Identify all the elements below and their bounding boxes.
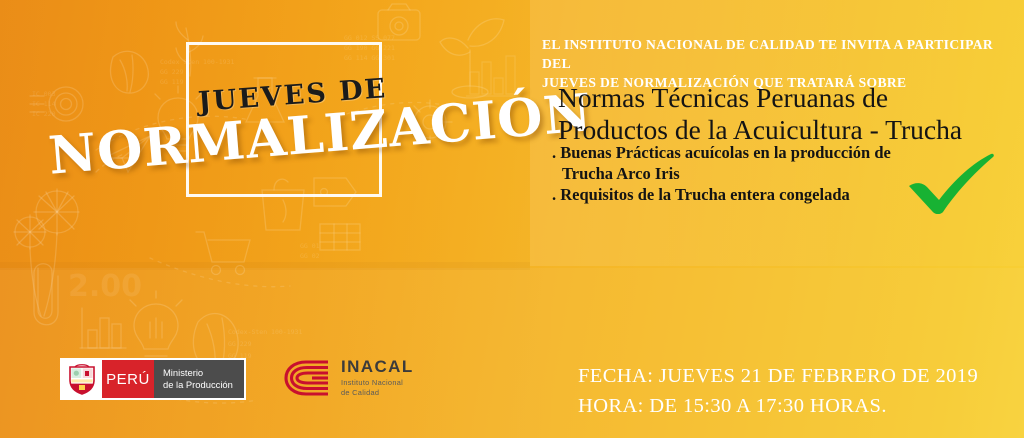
list-item: Trucha Arco Iris xyxy=(552,163,952,184)
svg-text:GG 229: GG 229 xyxy=(228,340,252,348)
paperclip-doodle xyxy=(34,264,58,325)
svg-text:GG 229: GG 229 xyxy=(160,68,184,76)
cart-doodle xyxy=(196,232,250,275)
svg-text:IC 003: IC 003 xyxy=(32,90,56,98)
bar-chart-doodle xyxy=(80,308,126,348)
event-time: HORA: DE 15:30 A 17:30 HORAS. xyxy=(578,392,978,422)
list-item: . Requisitos de la Trucha entera congela… xyxy=(552,184,952,205)
heading-line-1: Normas Técnicas Peruanas de xyxy=(558,82,1018,114)
svg-text:GG 02: GG 02 xyxy=(300,252,320,260)
intro-line-1: EL INSTITUTO NACIONAL DE CALIDAD TE INVI… xyxy=(542,36,1014,74)
peru-ministry-logo: PERÚ Ministerio de la Producción xyxy=(60,358,246,400)
large-number-doodle: 2.00 xyxy=(68,269,142,304)
inacal-tagline-line-1: Instituto Nacional xyxy=(341,378,403,387)
lightbulb-doodle-2 xyxy=(130,291,182,362)
list-item: . Buenas Prácticas acuícolas en la produ… xyxy=(552,142,952,163)
peru-coat-of-arms-icon xyxy=(62,360,102,398)
inacal-tagline: Instituto Nacional de Calidad xyxy=(341,378,414,398)
svg-text:2.00: 2.00 xyxy=(68,269,142,304)
checkmark-icon xyxy=(905,152,997,214)
dandelion-doodle xyxy=(14,189,79,316)
camera-doodle xyxy=(378,4,420,40)
peru-wordmark: PERÚ xyxy=(102,360,154,398)
inacal-mark-icon xyxy=(282,358,332,398)
topic-list: . Buenas Prácticas acuícolas en la produ… xyxy=(552,142,952,205)
svg-text:IC 114: IC 114 xyxy=(32,100,56,108)
inacal-tagline-line-2: de Calidad xyxy=(341,388,379,397)
band-divider xyxy=(0,262,530,270)
ministry-line-2: de la Producción xyxy=(163,379,244,391)
inacal-text-block: INACAL Instituto Nacional de Calidad xyxy=(341,358,414,398)
target-doodle xyxy=(30,87,83,121)
svg-text:Codex-Sten 100-1931: Codex-Sten 100-1931 xyxy=(228,328,302,336)
plant-doodle xyxy=(440,19,504,98)
event-heading: Normas Técnicas Peruanas de Productos de… xyxy=(558,82,1018,146)
svg-text:IC 220: IC 220 xyxy=(32,110,56,118)
event-banner: Codex Sten 100-1931 GG 229 GG 119 IC 003… xyxy=(0,0,1024,438)
event-date: FECHA: JUEVES 21 DE FEBRERO DE 2019 xyxy=(578,362,978,392)
inacal-logo: INACAL Instituto Nacional de Calidad xyxy=(282,358,414,398)
svg-text:GG 119: GG 119 xyxy=(160,78,184,86)
ministry-name: Ministerio de la Producción xyxy=(154,360,244,398)
grid-doodle xyxy=(320,224,360,250)
inacal-name: INACAL xyxy=(341,358,414,375)
svg-text:GG 01: GG 01 xyxy=(300,242,320,250)
event-datetime: FECHA: JUEVES 21 DE FEBRERO DE 2019 HORA… xyxy=(578,362,978,421)
svg-text:GG 012 SS 077: GG 012 SS 077 xyxy=(344,34,395,42)
cacao-pod-doodle xyxy=(111,51,149,93)
ministry-line-1: Ministerio xyxy=(163,367,244,379)
